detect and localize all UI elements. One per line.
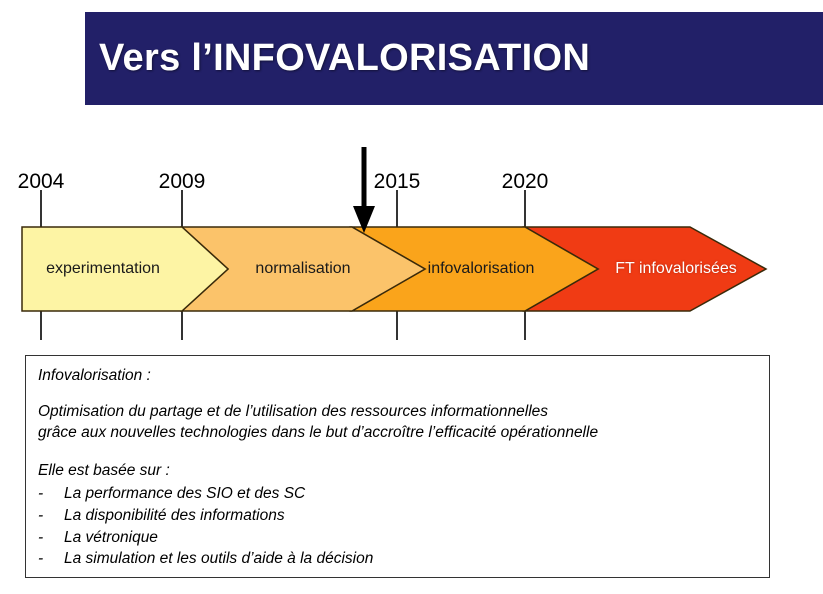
year-label-2004: 2004 [18,170,65,194]
year-label-2015: 2015 [374,170,421,194]
slide-canvas: Vers l’INFOVALORISATION [0,0,823,594]
page-title: Vers l’INFOVALORISATION [99,37,590,80]
year-label-2009: 2009 [159,170,206,194]
bullet-dash-icon: - [38,506,64,527]
list-item: - La vétronique [38,528,769,549]
bullet-dash-icon: - [38,484,64,505]
segment-label-experimentation: experimentation [46,260,160,278]
definition-content: Infovalorisation : Optimisation du parta… [26,356,769,570]
down-arrow-marker-icon [353,147,375,233]
definition-paragraph-line-2: grâce aux nouvelles technologies dans le… [38,423,769,444]
segment-label-infovalorisation: infovalorisation [428,260,535,278]
bullet-text-performance-sio-sc: La performance des SIO et des SC [64,484,305,505]
segment-label-ft-infovalorisees: FT infovalorisées [615,260,737,278]
bullet-text-simulation-aide-decision: La simulation et les outils d’aide à la … [64,549,373,570]
bullet-text-vetronique: La vétronique [64,528,158,549]
year-tick-lines-upper [41,190,525,231]
bullet-dash-icon: - [38,549,64,570]
definition-heading: Infovalorisation : [38,366,769,387]
definition-paragraph-line-1: Optimisation du partage et de l’utilisat… [38,402,769,423]
segment-label-normalisation: normalisation [255,260,350,278]
year-label-2020: 2020 [502,170,549,194]
list-item: - La disponibilité des informations [38,506,769,527]
definition-box: Infovalorisation : Optimisation du parta… [25,355,770,578]
title-banner: Vers l’INFOVALORISATION [85,12,823,105]
bullet-text-disponibilite-informations: La disponibilité des informations [64,506,285,527]
list-item: - La performance des SIO et des SC [38,484,769,505]
list-item: - La simulation et les outils d’aide à l… [38,549,769,570]
year-tick-lines-lower [41,308,525,340]
bullet-dash-icon: - [38,528,64,549]
definition-basis-intro: Elle est basée sur : [38,461,769,482]
